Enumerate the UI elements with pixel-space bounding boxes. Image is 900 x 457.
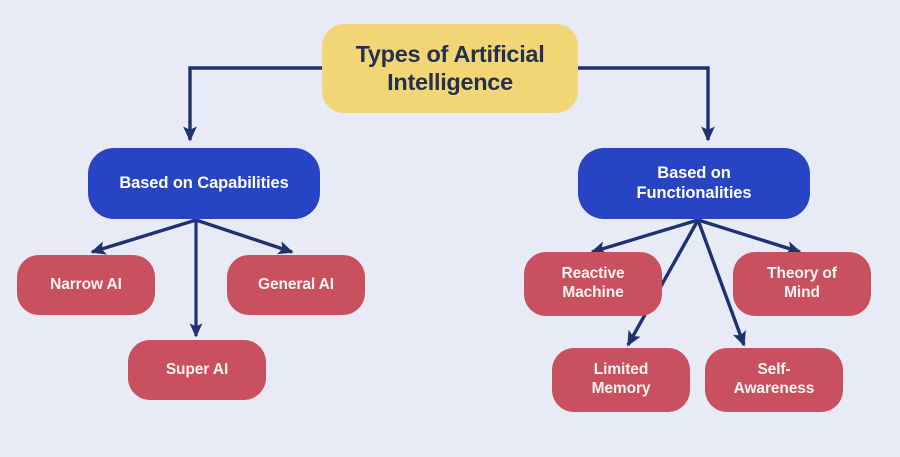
node-leaf-theory-of-mind[interactable]: Theory of Mind — [733, 252, 871, 316]
node-leaf-super-ai[interactable]: Super AI — [128, 340, 266, 400]
connector-root-to-functionalities — [578, 68, 708, 140]
node-branch-based-on-capabilities[interactable]: Based on Capabilities — [88, 148, 320, 219]
node-leaf-general-ai[interactable]: General AI — [227, 255, 365, 315]
connector-capabilities-to-narrow-ai — [92, 220, 196, 252]
ai-types-diagram: Types of Artificial Intelligence Based o… — [0, 0, 900, 457]
node-leaf-narrow-ai[interactable]: Narrow AI — [17, 255, 155, 315]
node-leaf-reactive-machine[interactable]: Reactive Machine — [524, 252, 662, 316]
connector-functionalities-to-reactive-machine — [592, 220, 698, 252]
node-leaf-limited-memory[interactable]: Limited Memory — [552, 348, 690, 412]
connector-functionalities-to-theory-of-mind — [698, 220, 800, 252]
connector-root-to-capabilities — [190, 68, 322, 140]
connector-capabilities-to-general-ai — [196, 220, 292, 252]
node-root-types-of-ai[interactable]: Types of Artificial Intelligence — [322, 24, 578, 113]
node-branch-based-on-functionalities[interactable]: Based on Functionalities — [578, 148, 810, 219]
node-leaf-self-awareness[interactable]: Self- Awareness — [705, 348, 843, 412]
